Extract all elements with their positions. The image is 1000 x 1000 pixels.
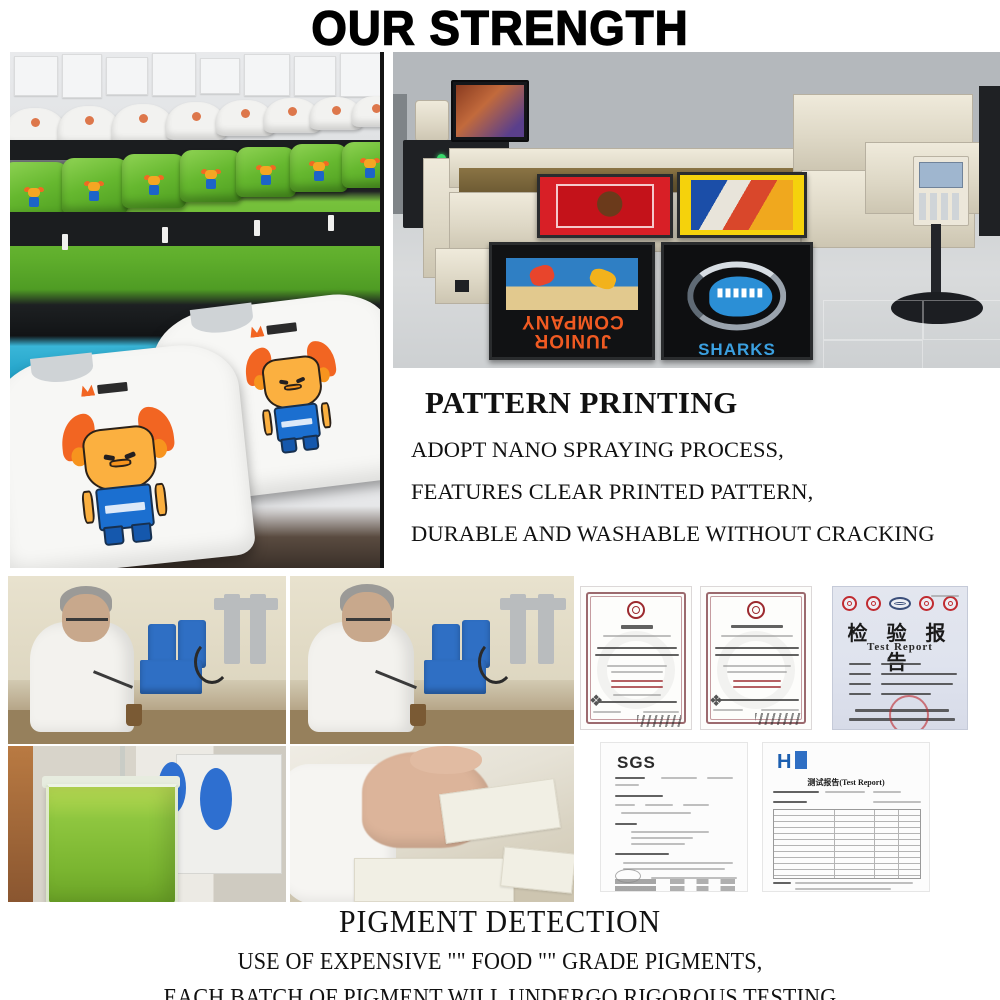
shirt-collar [190, 303, 255, 336]
heat-press-control-panel [913, 156, 969, 226]
pigment-line-2: EACH BATCH OF PIGMENT WILL UNDERGO RIGOR… [40, 985, 960, 1000]
pattern-printing-heading: PATTERN PRINTING [393, 385, 1000, 421]
printed-tshirt [10, 340, 257, 568]
eyeglasses [346, 618, 390, 621]
report-field [873, 801, 921, 803]
bull-mascot-print [86, 182, 102, 202]
cert-line [607, 665, 667, 667]
printed-garment-sharks: SHARKS [661, 242, 813, 360]
bottle [415, 100, 449, 142]
certificate-iso-chinese: ❖ [580, 586, 692, 730]
cabinet [979, 86, 1000, 236]
pattern-line-1: ADOPT NANO SPRAYING PROCESS, [393, 437, 1000, 463]
cert-watermark [717, 631, 795, 709]
photo-laboratory-technician-right [290, 576, 574, 744]
report-line [615, 823, 637, 825]
field-value [881, 673, 957, 675]
report-field [773, 791, 819, 793]
cert-signature [755, 713, 801, 725]
report-line [623, 862, 733, 864]
shark-graphic-icon [687, 261, 786, 330]
cert-line [723, 665, 791, 667]
cert-line [595, 654, 679, 656]
report-line [631, 843, 685, 845]
lab-equipment [140, 660, 202, 694]
cert-standard-line [733, 686, 781, 688]
printer-monitor [451, 80, 529, 142]
brand-logo-lockup [249, 321, 297, 338]
cert-seal-icon [747, 601, 765, 619]
back-shirt [112, 104, 174, 144]
lab-equipment [424, 660, 486, 694]
field-label [849, 673, 871, 675]
section-heading [773, 801, 807, 803]
bull-mascot-print [362, 159, 378, 179]
cert-standard-line [611, 680, 663, 682]
report-line [631, 831, 709, 833]
photo-green-pigment-beaker [8, 746, 286, 902]
bull-mascot-print [65, 403, 179, 549]
sample-bottle [126, 704, 142, 726]
printed-garment-yellow [677, 172, 807, 238]
footer-label [773, 882, 791, 884]
report-field [615, 777, 645, 779]
certificate-inspection-test-report: 检 验 报 告 Test Report [832, 586, 968, 730]
bull-horn-logo-icon [80, 384, 95, 396]
brand-wordmark [266, 322, 297, 335]
beaker-with-green-pigment [46, 784, 178, 902]
report-line [631, 837, 693, 839]
h-logo: H [777, 751, 791, 774]
eyeglasses [66, 618, 108, 621]
footer-line [651, 877, 737, 879]
photo-laboratory-technician-left [8, 576, 286, 744]
cert-title-line [621, 625, 653, 629]
lab-cable [194, 640, 230, 684]
report-line [615, 804, 635, 806]
cert-line [613, 694, 661, 696]
cert-line [603, 635, 671, 637]
cert-line [643, 711, 679, 713]
footer-line [795, 882, 913, 884]
ccc-seal-icon [842, 596, 857, 611]
report-number [931, 595, 959, 597]
cert-line [727, 671, 787, 673]
bull-mascot-print [203, 170, 219, 190]
section-heading [615, 853, 669, 855]
wall-paper [106, 57, 148, 95]
cert-line [761, 709, 799, 711]
paper-sample [500, 846, 574, 893]
official-red-stamp-icon [889, 695, 929, 730]
report-line [683, 804, 709, 806]
background-shelf [8, 746, 33, 902]
rail-tab [162, 227, 168, 243]
green-pallet [180, 150, 242, 202]
cnas-seal-icon [889, 597, 911, 610]
cert-line [721, 635, 793, 637]
wall-paper [340, 53, 384, 97]
pigment-detection-text-block: PIGMENT DETECTION USE OF EXPENSIVE "" FO… [0, 903, 1000, 1000]
cert-line [593, 711, 621, 713]
field-label [849, 693, 871, 695]
h-results-table [773, 809, 921, 879]
report-field [873, 791, 901, 793]
wall-paper [294, 56, 336, 96]
printed-garment-red [537, 174, 673, 238]
cert-line [715, 699, 799, 701]
bull-horn-logo-icon [249, 325, 264, 338]
h-logo-mark [795, 751, 807, 769]
field-label [849, 683, 871, 685]
photo-lab-hand-sample [290, 746, 574, 902]
cert-line [597, 647, 677, 649]
finger [410, 746, 482, 774]
sharks-text: SHARKS [676, 340, 799, 360]
field-value [881, 683, 953, 685]
sgs-stamp-icon [615, 869, 641, 883]
wall-paper [62, 54, 102, 98]
pattern-line-3: DURABLE AND WASHABLE WITHOUT CRACKING [393, 521, 1000, 547]
cert-line [715, 647, 799, 649]
wall-paper [200, 58, 240, 94]
wall-paper [14, 56, 58, 96]
bull-mascot-print [26, 188, 42, 208]
lab-stand [214, 598, 278, 610]
cert-line [715, 654, 799, 656]
section-heading [615, 795, 663, 797]
cert-seal-icon [627, 601, 645, 619]
test-report-en-title: Test Report [833, 641, 967, 653]
printed-garment-junior-company: JUNIOR COMPANY [489, 242, 655, 360]
report-line [623, 868, 725, 870]
table-row [615, 886, 735, 891]
cert-line [611, 671, 663, 673]
certificate-iso-english: ❖ [700, 586, 812, 730]
report-line [621, 812, 691, 814]
report-field [661, 777, 697, 779]
green-pallet [342, 142, 384, 188]
blue-equipment [200, 768, 232, 830]
pigment-detection-heading: PIGMENT DETECTION [35, 903, 965, 940]
brand-wordmark [97, 382, 128, 394]
certification-seal-row [842, 596, 957, 611]
rail-tab [62, 234, 68, 250]
cal-seal-icon [943, 596, 958, 611]
cert-mark-icon: ❖ [589, 691, 603, 711]
junior-company-text: JUNIOR COMPANY [502, 312, 643, 350]
back-shirt [352, 96, 384, 127]
cma-seal-icon [919, 596, 934, 611]
cert-line [597, 701, 677, 703]
bull-mascot-print [248, 338, 341, 457]
pigment-line-1: USE OF EXPENSIVE "" FOOD "" GRADE PIGMEN… [40, 949, 960, 976]
report-field [825, 791, 865, 793]
photo-screen-printing-carousel [10, 52, 384, 568]
shirt-collar [30, 352, 94, 384]
sgs-logo: SGS [617, 753, 656, 773]
photo-dtg-flatbed-printer: JUNIOR COMPANY SHARKS [393, 52, 1000, 368]
technician-head [342, 592, 392, 642]
bull-mascot-print [146, 176, 162, 196]
brand-logo-lockup [80, 381, 128, 397]
certificate-h-test-report: H 测试报告(Test Report) [762, 742, 930, 892]
green-pallet [236, 147, 296, 197]
keypad [919, 193, 963, 220]
rail-tab [328, 215, 334, 231]
field-label [849, 663, 871, 665]
floor-tile [923, 300, 1000, 340]
bull-mascot-print [311, 162, 327, 182]
floor-tile [823, 300, 923, 340]
sample-bottle [410, 704, 426, 726]
cert-standard-line [733, 680, 781, 682]
cert-standard-line [611, 686, 663, 688]
lab-cable [478, 640, 514, 684]
cert-watermark [597, 631, 675, 709]
green-pallet [122, 154, 186, 208]
cert-mark-icon: ❖ [709, 691, 723, 711]
poster-root: OUR STRENGTH [0, 0, 1000, 1000]
green-pallet [290, 144, 348, 192]
h-report-title: 测试报告(Test Report) [763, 777, 929, 788]
footer-line [795, 888, 891, 890]
lcd-display [919, 162, 963, 188]
wall-paper [152, 53, 196, 96]
report-field [615, 784, 639, 786]
table-row [774, 870, 920, 876]
pattern-line-2: FEATURES CLEAR PRINTED PATTERN, [393, 479, 1000, 505]
cert-signature [637, 715, 681, 727]
green-pallet [62, 158, 128, 214]
certificate-sgs-test-report: SGS [600, 742, 748, 892]
cqc-seal-icon [866, 596, 881, 611]
wall-paper [244, 54, 290, 96]
lab-stand [500, 598, 566, 610]
cert-title-line [731, 625, 783, 628]
floor-tile [823, 340, 923, 368]
rail-tab [254, 220, 260, 236]
panel-bolt [455, 280, 469, 292]
field-value [881, 663, 921, 665]
press-stand [931, 224, 941, 300]
pattern-printing-text-block: PATTERN PRINTING ADOPT NANO SPRAYING PRO… [393, 385, 1000, 547]
paper-sample [354, 858, 514, 902]
bull-mascot-print [258, 166, 274, 186]
report-line [645, 804, 673, 806]
report-field [707, 777, 733, 779]
page-title: OUR STRENGTH [0, 2, 1000, 57]
